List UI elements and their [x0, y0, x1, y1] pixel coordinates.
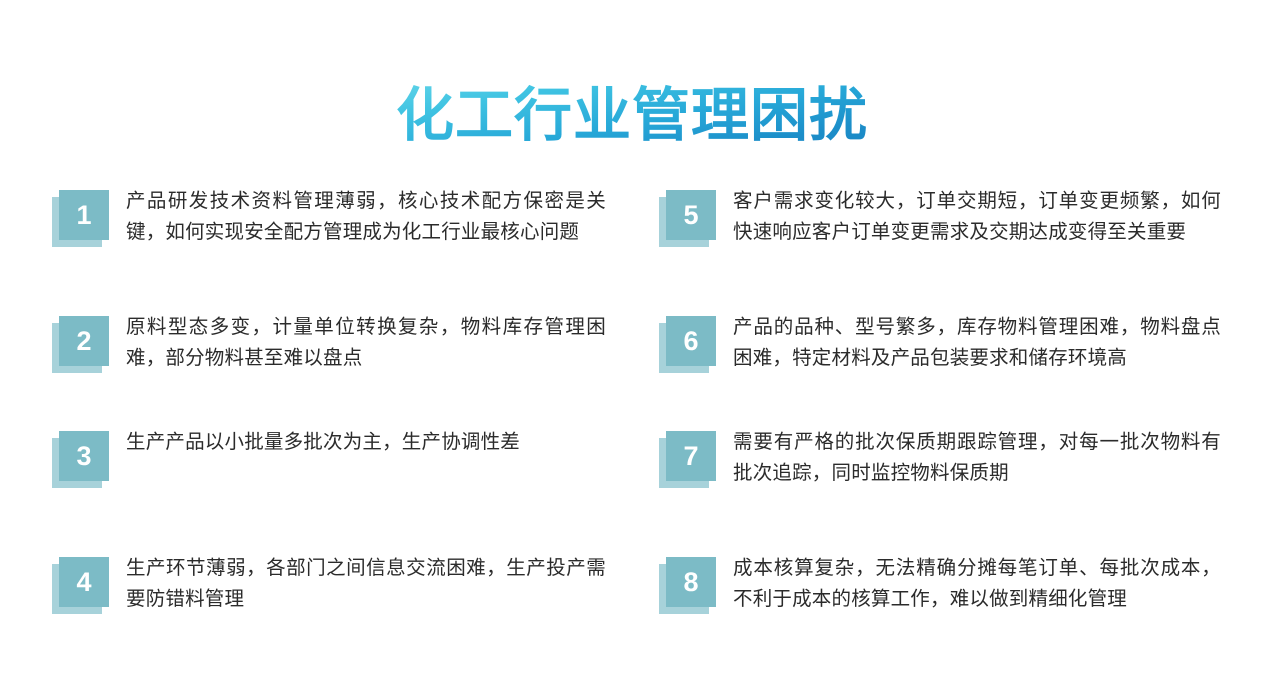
number-badge: 5: [659, 190, 721, 252]
number-badge: 4: [52, 557, 114, 619]
list-item: 8 成本核算复杂，无法精确分摊每笔订单、每批次成本，不利于成本的核算工作，难以做…: [659, 553, 1221, 619]
list-item-text: 原料型态多变，计量单位转换复杂，物料库存管理困难，部分物料甚至难以盘点: [126, 312, 606, 374]
content-columns: 1 产品研发技术资料管理薄弱，核心技术配方保密是关键，如何实现安全配方管理成为化…: [0, 186, 1264, 686]
badge-number: 8: [666, 557, 716, 607]
list-item: 7 需要有严格的批次保质期跟踪管理，对每一批次物料有批次追踪，同时监控物料保质期: [659, 427, 1221, 493]
badge-number: 4: [59, 557, 109, 607]
list-item-text: 需要有严格的批次保质期跟踪管理，对每一批次物料有批次追踪，同时监控物料保质期: [733, 427, 1221, 489]
list-item-text: 成本核算复杂，无法精确分摊每笔订单、每批次成本，不利于成本的核算工作，难以做到精…: [733, 553, 1221, 615]
list-item: 6 产品的品种、型号繁多，库存物料管理困难，物料盘点困难，特定材料及产品包装要求…: [659, 312, 1221, 378]
number-badge: 3: [52, 431, 114, 493]
number-badge: 7: [659, 431, 721, 493]
badge-number: 7: [666, 431, 716, 481]
number-badge: 2: [52, 316, 114, 378]
page-title-container: 化工行业管理困扰: [0, 44, 1264, 188]
list-item-text: 生产环节薄弱，各部门之间信息交流困难，生产投产需要防错料管理: [126, 553, 606, 615]
badge-number: 1: [59, 190, 109, 240]
number-badge: 6: [659, 316, 721, 378]
badge-number: 6: [666, 316, 716, 366]
list-item-text: 客户需求变化较大，订单交期短，订单变更频繁，如何快速响应客户订单变更需求及交期达…: [733, 186, 1221, 248]
list-item: 1 产品研发技术资料管理薄弱，核心技术配方保密是关键，如何实现安全配方管理成为化…: [52, 186, 606, 252]
slide-canvas: 化工行业管理困扰 1 产品研发技术资料管理薄弱，核心技术配方保密是关键，如何实现…: [0, 0, 1264, 687]
badge-number: 5: [666, 190, 716, 240]
list-item: 2 原料型态多变，计量单位转换复杂，物料库存管理困难，部分物料甚至难以盘点: [52, 312, 606, 378]
number-badge: 1: [52, 190, 114, 252]
list-item-text: 产品研发技术资料管理薄弱，核心技术配方保密是关键，如何实现安全配方管理成为化工行…: [126, 186, 606, 248]
page-title: 化工行业管理困扰: [396, 83, 868, 150]
list-item: 5 客户需求变化较大，订单交期短，订单变更频繁，如何快速响应客户订单变更需求及交…: [659, 186, 1221, 252]
list-item: 4 生产环节薄弱，各部门之间信息交流困难，生产投产需要防错料管理: [52, 553, 606, 619]
list-item: 3 生产产品以小批量多批次为主，生产协调性差: [52, 427, 606, 493]
list-item-text: 生产产品以小批量多批次为主，生产协调性差: [126, 427, 606, 458]
list-item-text: 产品的品种、型号繁多，库存物料管理困难，物料盘点困难，特定材料及产品包装要求和储…: [733, 312, 1221, 374]
number-badge: 8: [659, 557, 721, 619]
badge-number: 3: [59, 431, 109, 481]
badge-number: 2: [59, 316, 109, 366]
